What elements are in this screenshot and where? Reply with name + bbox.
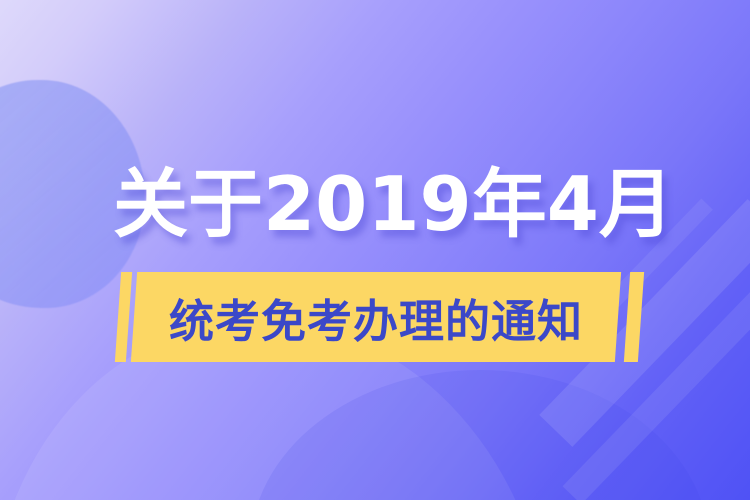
announcement-banner: 关于2019年4月 统考免考办理的通知 [0,0,750,500]
subtitle-ribbon: 统考免考办理的通知 [112,272,646,362]
left-slanted-tick-decoration [115,272,132,362]
banner-headline: 关于2019年4月 [113,158,674,250]
right-slanted-tick-decoration [624,272,644,362]
banner-subtitle: 统考免考办理的通知 [134,272,618,362]
